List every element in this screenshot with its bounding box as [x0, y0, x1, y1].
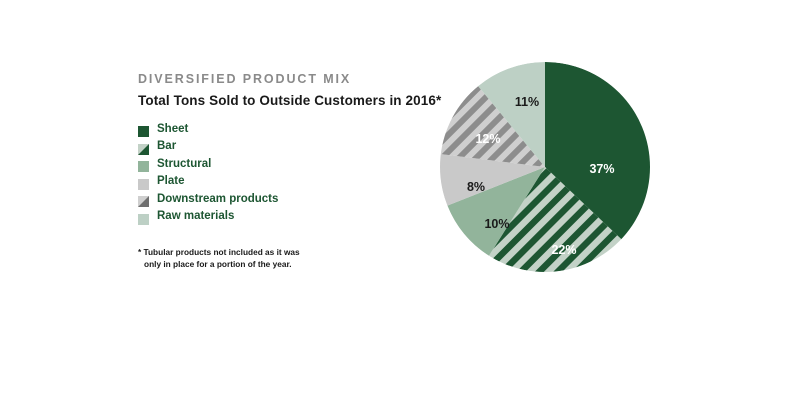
legend-item-bar[interactable]: Bar: [138, 138, 428, 156]
pie-label-downstream-products: 12%: [475, 132, 500, 146]
legend-item-structural[interactable]: Structural: [138, 156, 428, 174]
footnote-line-2: only in place for a portion of the year.: [138, 258, 428, 270]
pie-label-sheet: 37%: [589, 162, 614, 176]
legend-swatch-raw-materials-icon: [138, 212, 149, 223]
page-title: Total Tons Sold to Outside Customers in …: [138, 93, 428, 110]
legend-label-plate: Plate: [157, 176, 185, 188]
chart-footnote: * Tubular products not included as it wa…: [138, 246, 428, 270]
legend-label-raw-materials: Raw materials: [157, 211, 234, 223]
legend-swatch-sheet-icon: [138, 124, 149, 135]
legend-swatch-downstream-products-icon: [138, 194, 149, 205]
pie-label-raw-materials: 11%: [515, 95, 539, 109]
legend-item-downstream-products[interactable]: Downstream products: [138, 191, 428, 209]
legend-item-sheet[interactable]: Sheet: [138, 121, 428, 139]
legend-swatch-plate-icon: [138, 177, 149, 188]
pie-chart: 37% 22% 10% 8% 12% 11%: [436, 58, 656, 278]
legend-label-structural: Structural: [157, 159, 211, 171]
pie-label-structural: 10%: [484, 217, 509, 231]
legend-swatch-structural-icon: [138, 159, 149, 170]
pie-label-plate: 8%: [467, 180, 485, 194]
legend-item-raw-materials[interactable]: Raw materials: [138, 208, 428, 226]
chart-eyebrow-label: DIVERSIFIED PRODUCT MIX: [138, 72, 428, 87]
legend-label-sheet: Sheet: [157, 124, 188, 136]
pie-slices: [440, 62, 651, 272]
legend-label-bar: Bar: [157, 141, 176, 153]
legend-item-plate[interactable]: Plate: [138, 173, 428, 191]
chart-text-panel: DIVERSIFIED PRODUCT MIX Total Tons Sold …: [138, 72, 428, 270]
legend-label-downstream-products: Downstream products: [157, 194, 278, 206]
pie-label-bar: 22%: [551, 243, 576, 257]
chart-legend: Sheet Bar Structural: [138, 121, 428, 226]
legend-swatch-bar-icon: [138, 142, 149, 153]
diversified-product-mix-figure: DIVERSIFIED PRODUCT MIX Total Tons Sold …: [0, 0, 800, 414]
footnote-line-1: * Tubular products not included as it wa…: [138, 246, 428, 258]
